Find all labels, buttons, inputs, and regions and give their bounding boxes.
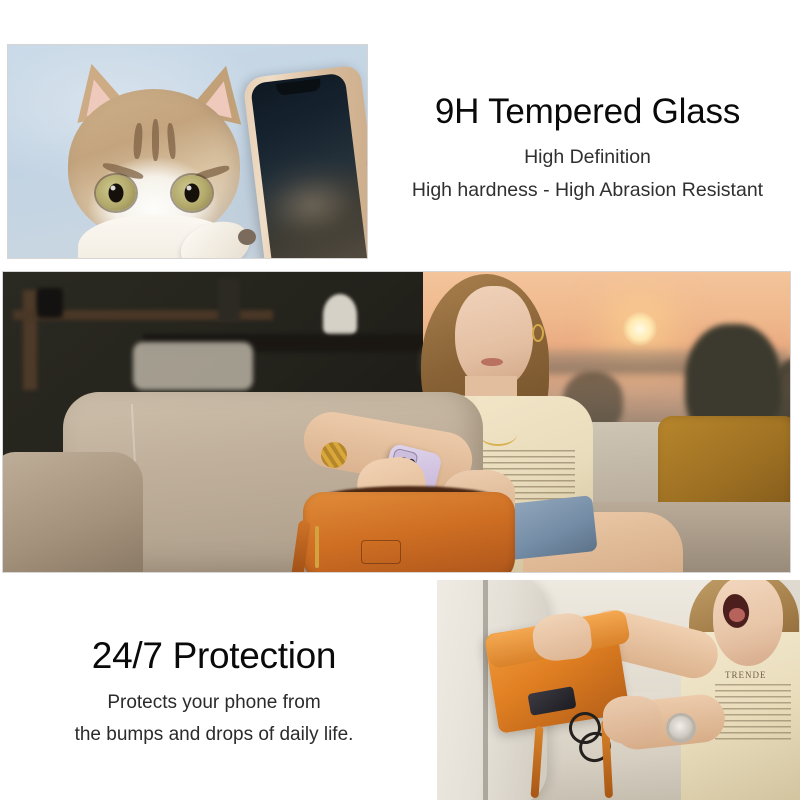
shelf-post <box>23 290 37 390</box>
woman-face <box>455 286 533 390</box>
vase <box>323 294 357 336</box>
marketing-collage-page: 9H Tempered Glass High Definition High h… <box>0 0 800 800</box>
smartphone-icon <box>242 65 367 258</box>
woman-hand-lower <box>603 696 661 744</box>
woman-face <box>713 580 783 666</box>
woman-lips <box>481 358 503 366</box>
phone-screen <box>250 73 367 258</box>
earring <box>532 324 544 342</box>
woman-placing-phone-in-handbag-photo <box>3 272 790 572</box>
cat-pupil <box>109 184 124 203</box>
background-pillow <box>133 342 253 390</box>
handbag-spilling-phone-photo: TRENDE <box>437 580 800 800</box>
kitten-touching-phone-photo <box>8 45 367 258</box>
tempered-glass-text-block: 9H Tempered Glass High Definition High h… <box>380 92 795 201</box>
cat-pupil <box>185 184 200 203</box>
headline-subtitle-1: High Definition <box>380 147 795 168</box>
phone-notch <box>276 79 321 96</box>
cat-stripe <box>152 119 159 161</box>
protection-title: 24/7 Protection <box>20 636 408 677</box>
cat-eye-left <box>96 175 136 211</box>
couch-piping <box>483 580 488 800</box>
cat-stripe <box>133 123 143 159</box>
protection-text-block: 24/7 Protection Protects your phone from… <box>20 636 408 745</box>
handbag-tag <box>361 540 401 564</box>
shirt-print <box>715 684 791 740</box>
protection-subtitle-1: Protects your phone from <box>20 693 408 714</box>
wristwatch-icon <box>669 716 693 740</box>
woman-tongue <box>729 608 745 622</box>
shelf-object <box>218 278 240 322</box>
cat-eye-right <box>172 175 212 211</box>
sun-icon <box>623 312 657 346</box>
necklace <box>479 422 517 446</box>
cat-paw-pad <box>238 229 256 245</box>
shelf-object <box>37 288 63 318</box>
handbag-zipper <box>315 526 319 568</box>
headline-subtitle-2: High hardness - High Abrasion Resistant <box>380 180 795 201</box>
phone-side-button <box>366 160 367 204</box>
headline-title: 9H Tempered Glass <box>380 92 795 131</box>
kitten-figure <box>60 63 260 258</box>
sofa-arm <box>3 452 143 572</box>
protection-subtitle-2: the bumps and drops of daily life. <box>20 725 408 746</box>
handbag-icon <box>303 492 515 572</box>
cat-stripe <box>166 123 176 159</box>
shirt-brand-text: TRENDE <box>725 670 767 680</box>
